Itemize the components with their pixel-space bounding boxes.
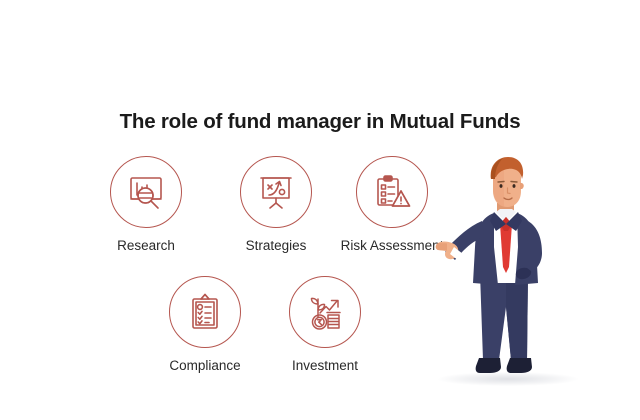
chart-board-magnifier-icon	[125, 171, 167, 213]
clipboard-checklist-icon	[184, 291, 226, 333]
node-label: Compliance	[135, 358, 275, 373]
slide-canvas: The role of fund manager in Mutual Funds	[0, 0, 640, 420]
clipboard-warning-icon	[371, 171, 413, 213]
node-icon-ring	[169, 276, 241, 348]
node-compliance[interactable]: Compliance	[135, 276, 275, 373]
businessman-pointing-illustration	[432, 155, 582, 387]
node-icon-ring	[110, 156, 182, 228]
node-icon-ring	[289, 276, 361, 348]
plant-growth-coin-jar-icon	[304, 291, 346, 333]
node-icon-ring	[356, 156, 428, 228]
node-investment[interactable]: Investment	[255, 276, 395, 373]
node-label: Research	[76, 238, 216, 253]
node-label: Investment	[255, 358, 395, 373]
page-title: The role of fund manager in Mutual Funds	[0, 110, 640, 134]
presentation-board-tactics-icon	[255, 171, 297, 213]
node-research[interactable]: Research	[76, 156, 216, 253]
node-icon-ring	[240, 156, 312, 228]
